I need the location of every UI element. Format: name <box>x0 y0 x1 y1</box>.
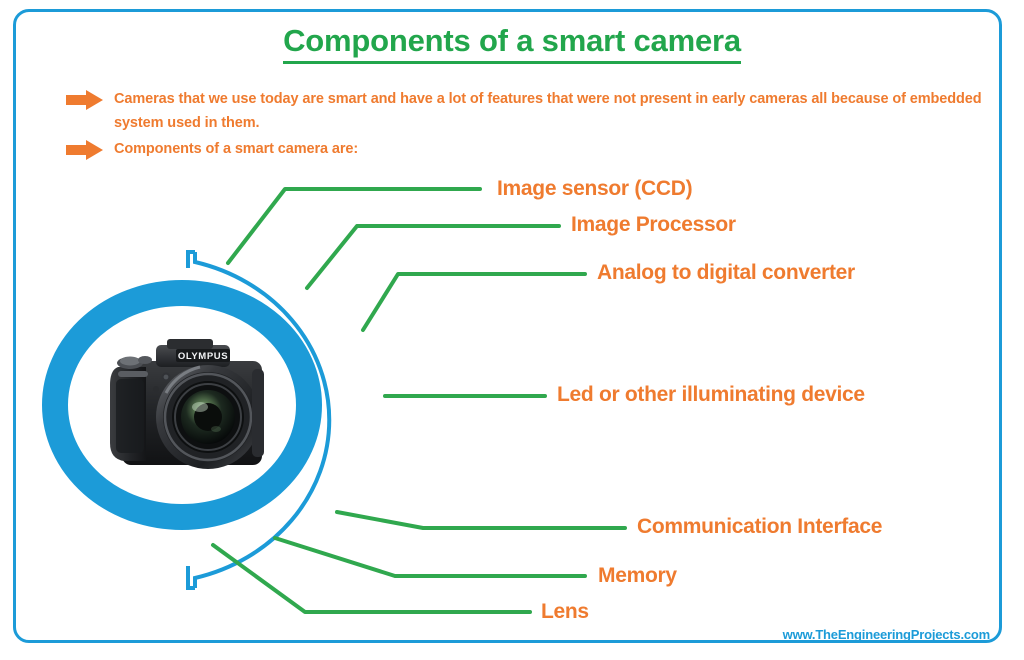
page-title: Components of a smart camera <box>0 24 1024 58</box>
connector-line-lens <box>213 545 530 612</box>
component-label-adc: Analog to digital converter <box>597 262 855 283</box>
component-label-image-sensor: Image sensor (CCD) <box>497 178 692 199</box>
component-label-communication-interface: Communication Interface <box>637 516 882 537</box>
arrow-right-icon <box>66 90 104 110</box>
connector-line-image-processor <box>307 226 559 288</box>
connector-line-memory <box>275 538 585 576</box>
intro-bullet-text: Components of a smart camera are: <box>114 138 358 162</box>
component-label-image-processor: Image Processor <box>571 214 736 235</box>
intro-bullet-text: Cameras that we use today are smart and … <box>114 88 996 136</box>
connector-line-communication <box>337 512 625 528</box>
page-title-text: Components of a smart camera <box>283 23 741 64</box>
intro-bullet: Components of a smart camera are: <box>66 138 996 162</box>
footer-website[interactable]: www.TheEngineeringProjects.com <box>783 627 990 642</box>
connector-line-image-sensor <box>228 189 480 263</box>
svg-text:OLYMPUS: OLYMPUS <box>178 351 228 362</box>
component-label-memory: Memory <box>598 565 677 586</box>
smart-camera-photo: OLYMPUS <box>104 333 286 478</box>
infographic-canvas: Components of a smart camera Cameras tha… <box>0 0 1024 660</box>
intro-bullet: Cameras that we use today are smart and … <box>66 88 996 136</box>
component-label-led: Led or other illuminating device <box>557 384 865 405</box>
connector-line-adc <box>363 274 585 330</box>
camera-illustration: OLYMPUS <box>104 333 286 478</box>
arrow-right-icon <box>66 140 104 160</box>
component-label-lens: Lens <box>541 601 589 622</box>
